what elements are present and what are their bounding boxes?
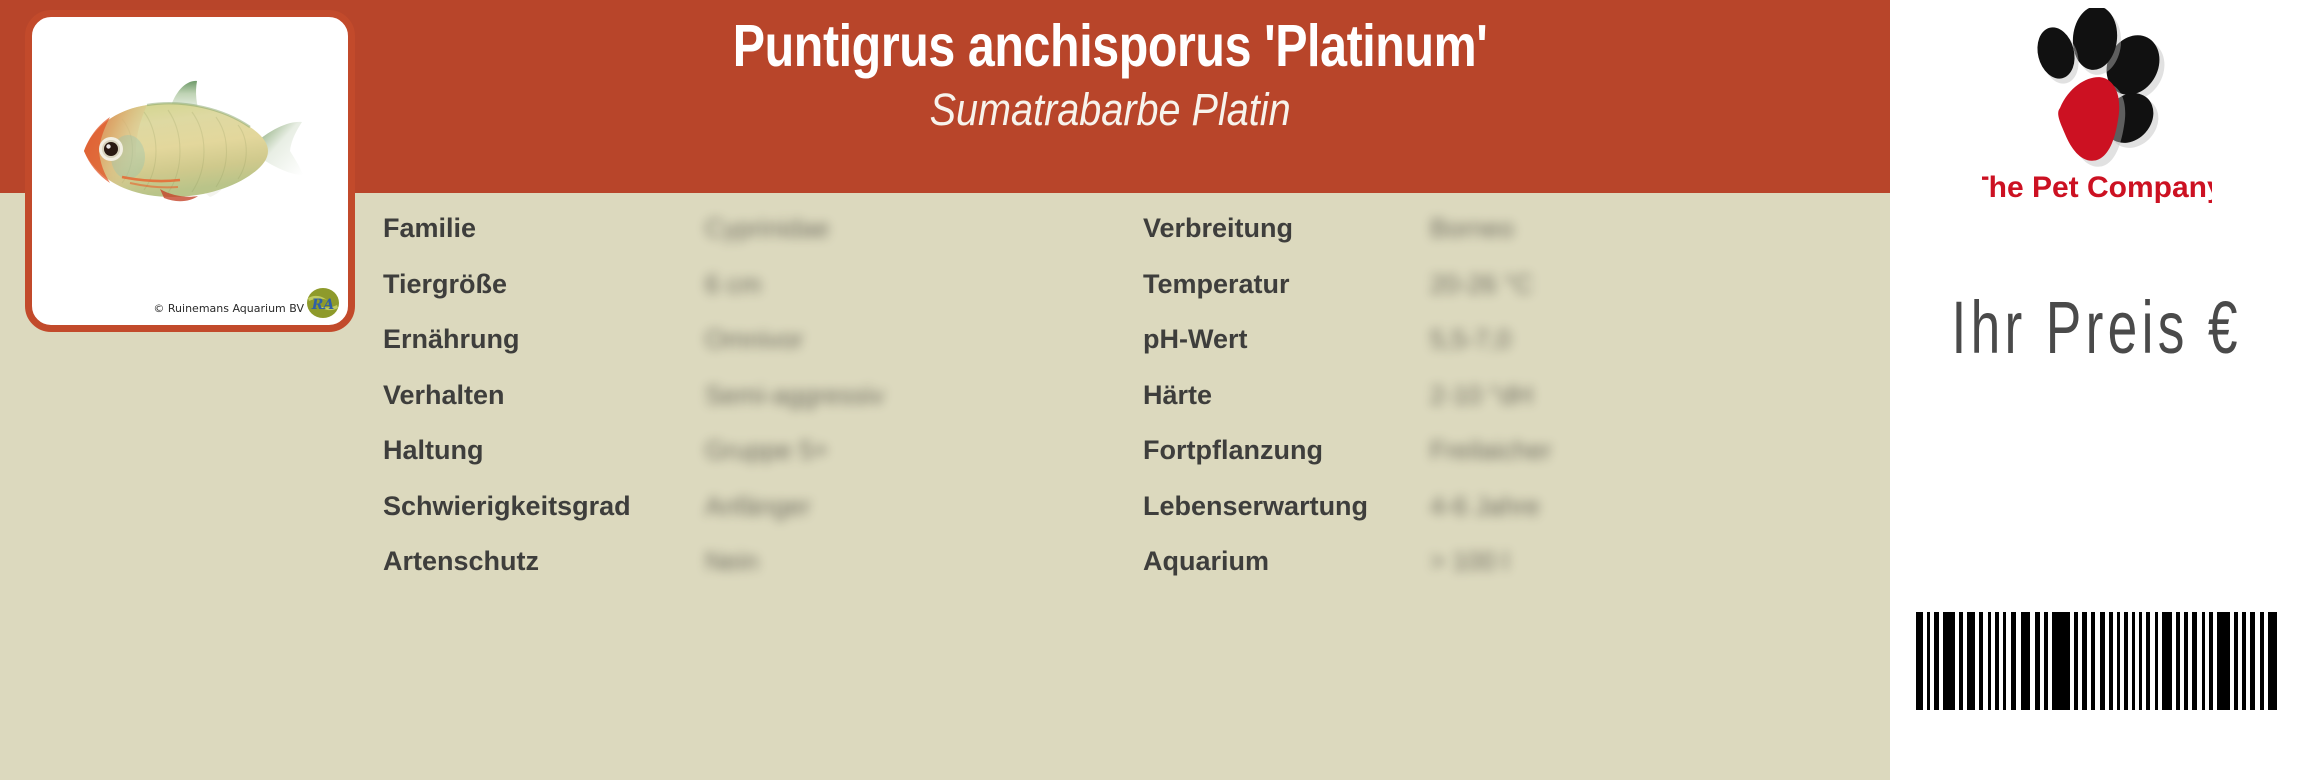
barcode-area [1890,612,2303,722]
price-panel: The Pet Company Ihr Preis € [1890,0,2303,780]
paw-print-logo-icon: The Pet Company [1982,8,2212,204]
attribute-row: FamilieCyprinidae [383,210,1003,246]
main-content-area: Puntigrus anchisporus 'Platinum' Sumatra… [0,0,1890,780]
attribute-row: Lebenserwartung4-6 Jahre [1143,488,1843,524]
title-block: Puntigrus anchisporus 'Platinum' Sumatra… [330,0,1890,193]
brand-logo: The Pet Company [1890,6,2303,206]
barcode-bar [2109,612,2113,710]
barcode-bar [2044,612,2048,710]
attribute-value: Freilaicher [1430,432,1551,468]
barcode-bar [2139,612,2142,710]
attribute-value: 2-10 °dH [1430,377,1533,413]
common-name: Sumatrabarbe Platin [929,86,1290,133]
attribute-row: Tiergröße6 cm [383,266,1003,302]
attribute-value: Borneo [1430,210,1514,246]
barcode-bar [2184,612,2188,710]
barcode-bar [2242,612,2246,710]
attribute-label: Haltung [383,432,484,468]
barcode-bar [1927,612,1930,710]
barcode-bar [1967,612,1975,710]
attribute-row: Härte2-10 °dH [1143,377,1843,413]
barcode-bar [2021,612,2030,710]
barcode-bar [2091,612,2095,710]
barcode-bar [2192,612,2197,710]
barcode-bar [2202,612,2205,710]
barcode [1916,612,2277,710]
barcode-bar [1959,612,1963,710]
attribute-row: Temperatur20-26 °C [1143,266,1843,302]
attribute-value: Gruppe 5+ [705,432,829,468]
barcode-bar [2132,612,2135,710]
attribute-label: Tiergröße [383,266,507,302]
barcode-bar [1988,612,1991,710]
barcode-bar [2260,612,2264,710]
attribute-row: FortpflanzungFreilaicher [1143,432,1843,468]
barcode-bar [2035,612,2040,710]
attribute-label: Verbreitung [1143,210,1293,246]
barcode-bar [2100,612,2105,710]
attribute-label: Fortpflanzung [1143,432,1323,468]
barcode-bar [2250,612,2255,710]
attribute-row: Aquarium> 100 l [1143,543,1843,579]
barcode-bar [2176,612,2180,710]
attribute-row: ArtenschutzNein [383,543,1003,579]
attribute-value: 5,5-7,0 [1430,321,1511,357]
attribute-label: Temperatur [1143,266,1290,302]
barcode-bar [1979,612,1983,710]
barcode-bar [2124,612,2128,710]
barcode-bar [2082,612,2087,710]
barcode-bar [2155,612,2158,710]
barcode-bar [1943,612,1955,710]
attributes-table: FamilieCyprinidaeTiergröße6 cmErnährungO… [0,193,1890,780]
attribute-row: VerhaltenSemi-aggressiv [383,377,1003,413]
barcode-bar [1916,612,1923,710]
attribute-label: Aquarium [1143,543,1269,579]
scientific-name: Puntigrus anchisporus 'Platinum' [733,16,1487,78]
barcode-bar [2117,612,2120,710]
attribute-value: 4-6 Jahre [1430,488,1540,524]
attribute-label: Artenschutz [383,543,539,579]
barcode-bar [2011,612,2016,710]
attribute-value: > 100 l [1430,543,1509,579]
attribute-value: Anfänger [705,488,811,524]
attribute-row: VerbreitungBorneo [1143,210,1843,246]
attribute-row: SchwierigkeitsgradAnfänger [383,488,1003,524]
barcode-bar [1934,612,1939,710]
barcode-bar [1995,612,1999,710]
attribute-label: Lebenserwartung [1143,488,1368,524]
barcode-bar [2234,612,2238,710]
barcode-bar [2074,612,2078,710]
fish-info-card: Puntigrus anchisporus 'Platinum' Sumatra… [0,0,2303,780]
paw-pad [2058,77,2125,167]
attribute-value: 6 cm [705,266,761,302]
price-label: Ihr Preis € [1951,285,2241,370]
attribute-value: Cyprinidae [705,210,829,246]
attribute-label: Ernährung [383,321,520,357]
barcode-bar [2268,612,2277,710]
attribute-label: pH-Wert [1143,321,1248,357]
attribute-label: Schwierigkeitsgrad [383,488,631,524]
barcode-bar [2146,612,2150,710]
brand-name: The Pet Company [1982,171,2212,204]
attribute-row: pH-Wert5,5-7,0 [1143,321,1843,357]
attribute-value: Semi-aggressiv [705,377,884,413]
attribute-value: Omnivor [705,321,803,357]
barcode-bar [2003,612,2006,710]
attribute-label: Härte [1143,377,1212,413]
attribute-value: 20-26 °C [1430,266,1533,302]
attribute-row: ErnährungOmnivor [383,321,1003,357]
barcode-bar [2217,612,2230,710]
barcode-bar [2209,612,2213,710]
barcode-bar [2052,612,2070,710]
price-label-row: Ihr Preis € [1890,272,2303,382]
attribute-value: Nein [705,543,758,579]
barcode-bar [2162,612,2172,710]
attribute-label: Verhalten [383,377,505,413]
attribute-row: HaltungGruppe 5+ [383,432,1003,468]
attribute-label: Familie [383,210,476,246]
